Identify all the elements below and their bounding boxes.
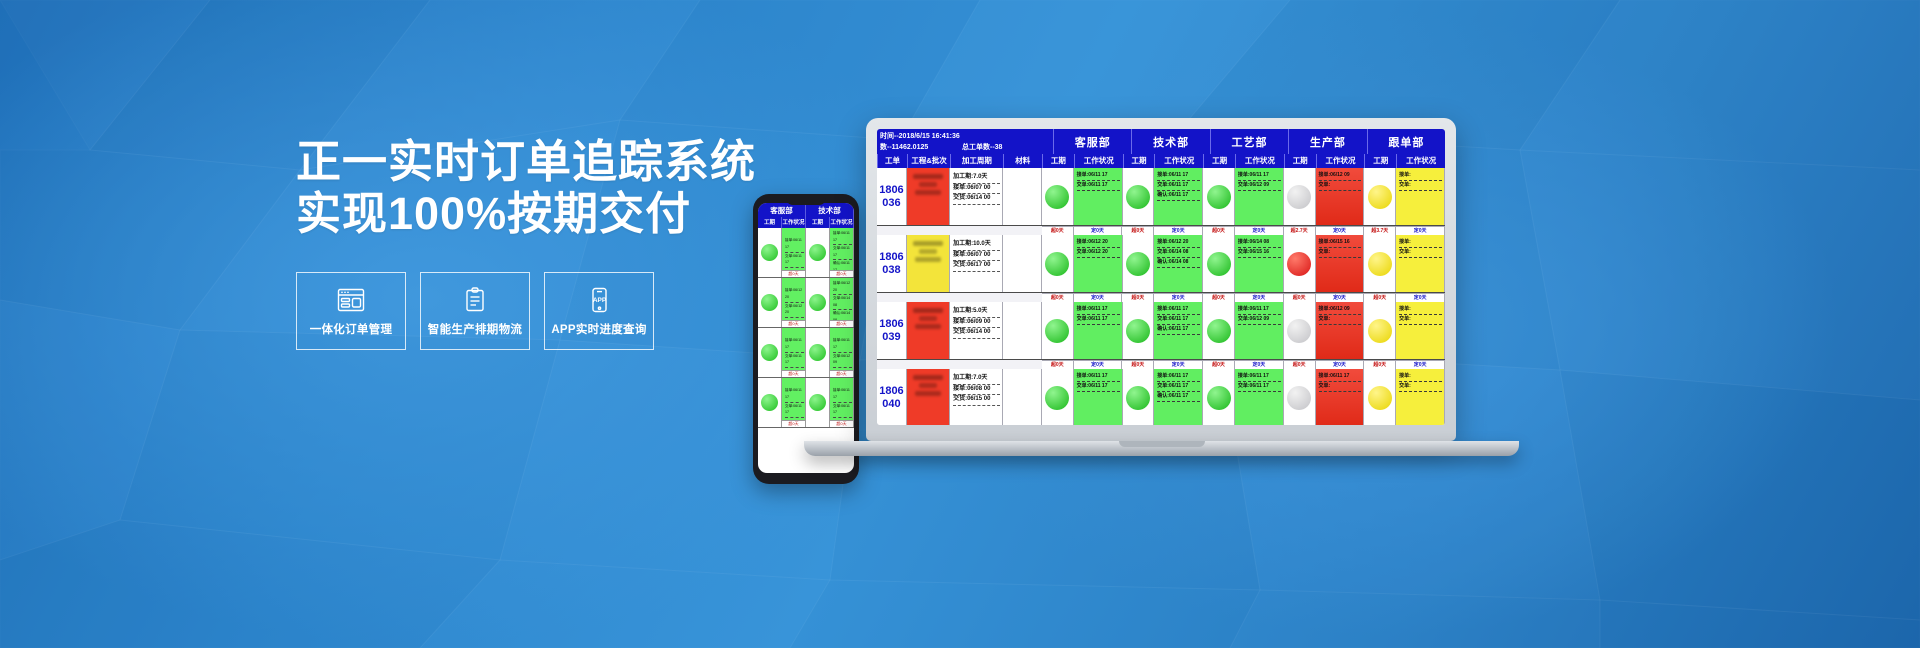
svg-text:APP: APP: [593, 297, 607, 304]
scheduled-tag: 定0天: [1235, 293, 1284, 302]
redacted-text: [915, 190, 942, 195]
work-status-cell[interactable]: 接单:06/12 09交单:: [1316, 168, 1365, 225]
status-line: 接单:06/11 17: [1157, 372, 1200, 382]
overdue-tag: 超0天: [1203, 360, 1235, 369]
status-line: 交单:: [1319, 382, 1362, 392]
phone-status-cell[interactable]: 接单:06/11 17 交单:06/11 17 超0天: [782, 378, 806, 427]
headline-line-1: 正一实时订单追踪系统: [296, 136, 756, 187]
status-line: 交单:: [1319, 248, 1362, 258]
cycle-line: 接单:06/09 00: [953, 318, 1000, 329]
overdue-tag: 超0天: [1042, 226, 1074, 235]
process-cycle-cell[interactable]: 加工期:10.0天接单:06/07 00交货:06/17 00: [950, 235, 1003, 292]
cycle-line: 加工期:7.0天: [953, 173, 1000, 184]
phone-status-cell[interactable]: 接单:06/11 17 交单:06/11 17 超0天: [782, 228, 806, 277]
status-line: 交单:06/11 17: [833, 245, 852, 260]
phone-dept-customer-service: 客服部: [758, 203, 806, 217]
status-tag-row: 超0天定0天超0天定0天超0天定0天超0天定0天超0天定0天: [877, 293, 1445, 302]
status-line: 交单:06/12 09: [833, 353, 852, 368]
status-dot-green: [1045, 319, 1069, 343]
status-dot-green: [761, 394, 778, 411]
dept-technical: 技术部: [1131, 129, 1209, 154]
status-line: 交单:: [1399, 315, 1442, 325]
overdue-tag: 超0天: [1042, 360, 1074, 369]
status-line: 接单:06/11 17: [785, 237, 804, 252]
status-line: 确认:06/14 08: [1157, 258, 1200, 268]
order-tracking-app: 时间--2018/6/15 16:41:36 数--11462.0125 总工单…: [877, 129, 1445, 425]
overdue-tag: 超0天: [1284, 360, 1316, 369]
work-status-cell[interactable]: 接单:06/11 17交单:: [1316, 369, 1365, 425]
status-line: 交单:06/15 16: [1238, 248, 1281, 258]
feature-label: 智能生产排期物流: [428, 321, 522, 337]
redacted-text: [919, 182, 937, 187]
status-line: 接单:: [1399, 238, 1442, 248]
table-row[interactable]: 1806036加工期:7.0天接单:06/07 00交货:06/14 00接单:…: [877, 168, 1445, 226]
overdue-tag: 超0天: [1122, 293, 1154, 302]
phone-duration-cell[interactable]: [758, 278, 782, 327]
overdue-tag: 超0天: [1042, 293, 1074, 302]
phone-col-duration: 工期: [806, 217, 830, 228]
meta-count: 数--11462.0125: [880, 142, 962, 153]
duration-cell[interactable]: [1364, 168, 1396, 225]
overdue-tag: 超0天: [1122, 360, 1154, 369]
status-line: 接单:06/11 17: [1238, 171, 1281, 181]
status-line: 接单:06/12 09: [1319, 305, 1362, 315]
phone-duration-cell[interactable]: [806, 328, 830, 377]
phone-table-row[interactable]: 接单:06/11 17 交单:06/11 17 超0天 接单:06/11 17 …: [758, 378, 854, 428]
department-header: 客服部 技术部 工艺部 生产部 跟单部: [1053, 129, 1445, 154]
material-cell[interactable]: [1003, 168, 1042, 225]
status-line: 接单:06/11 17: [1157, 171, 1200, 181]
redacted-text: [919, 249, 937, 254]
status-dot-yellow: [1368, 386, 1392, 410]
status-line: 交单:06/11 17: [1077, 181, 1120, 191]
status-line: 交单:06/11 17: [785, 403, 804, 418]
status-dot-yellow: [1368, 185, 1392, 209]
duration-cell[interactable]: [1284, 168, 1316, 225]
redacted-text: [919, 383, 937, 388]
status-dot-green: [1126, 386, 1150, 410]
status-line: 接单:06/11 17: [1157, 305, 1200, 315]
work-status-cell[interactable]: 接单:06/12 20交单:06/12 20: [1074, 235, 1123, 292]
cycle-line: 加工期:5.0天: [953, 307, 1000, 318]
status-line: 接单:06/12 20: [1157, 238, 1200, 248]
cycle-line: 交货:06/15 00: [953, 395, 1000, 406]
col-duration-tech: 工期: [1123, 154, 1155, 168]
work-status-cell[interactable]: 接单:06/11 17交单:06/11 17: [1235, 369, 1284, 425]
status-line: 接单:06/12 20: [833, 280, 852, 295]
overdue-tag: 超0天: [830, 370, 853, 377]
redacted-text: [915, 391, 942, 396]
work-status-cell[interactable]: 接单:06/12 20交单:06/14 08确认:06/14 08: [1154, 235, 1203, 292]
scheduled-tag: 定0天: [1396, 360, 1445, 369]
duration-cell[interactable]: [1284, 235, 1316, 292]
phone-duration-cell[interactable]: [758, 378, 782, 427]
col-duration-prod: 工期: [1284, 154, 1316, 168]
col-material: 材料: [1003, 154, 1042, 168]
duration-cell[interactable]: [1364, 235, 1396, 292]
status-line: 交单:: [1399, 181, 1442, 191]
scheduled-tag: 定0天: [1316, 293, 1365, 302]
status-line: 接单:: [1399, 372, 1442, 382]
phone-notch: [786, 197, 826, 205]
cycle-line: 接单:06/08 00: [953, 385, 1000, 396]
phone-status-cell[interactable]: 接单:06/11 17 交单:06/12 09 超0天: [830, 328, 854, 377]
status-tag-row: 超0天定0天超0天定0天超0天定0天超2.7天定0天超3.7天定0天: [877, 226, 1445, 235]
status-line: 接单:06/12 20: [785, 287, 804, 302]
status-line: 交单:06/11 17: [785, 253, 804, 268]
phone-table-row[interactable]: 接单:06/12 20 交单:06/12 20 超0天 接单:06/12 20 …: [758, 278, 854, 328]
phone-department-header: 客服部 技术部: [758, 203, 854, 217]
col-duration-cs: 工期: [1042, 154, 1074, 168]
col-process-cycle: 加工周期: [950, 154, 1002, 168]
duration-cell[interactable]: [1123, 168, 1155, 225]
status-line: 交单:06/14 08: [833, 295, 852, 310]
duration-cell[interactable]: [1203, 235, 1235, 292]
redacted-text: [913, 174, 944, 179]
col-status-tech: 工作状况: [1154, 154, 1203, 168]
duration-cell[interactable]: [1042, 235, 1074, 292]
status-line: 接单:06/11 17: [1319, 372, 1362, 382]
status-dot-green: [809, 344, 826, 361]
app-meta: 时间--2018/6/15 16:41:36 数--11462.0125 总工单…: [877, 129, 1053, 154]
scheduled-tag: 定0天: [1074, 293, 1123, 302]
redacted-text: [913, 375, 944, 380]
phone-status-cell[interactable]: 接单:06/11 17 交单:06/11 17 超0天: [830, 378, 854, 427]
col-status-cs: 工作状况: [1074, 154, 1123, 168]
status-line: 交单:06/12 20: [1077, 248, 1120, 258]
tag-spacer: [877, 293, 1042, 302]
status-line: 交单:: [1399, 248, 1442, 258]
status-dot-green: [761, 244, 778, 261]
overdue-tag: 超0天: [782, 420, 805, 427]
phone-col-status: 工作状况: [830, 217, 854, 228]
work-status-cell[interactable]: 接单:06/11 17交单:06/12 09: [1235, 168, 1284, 225]
status-dot-green: [1207, 252, 1231, 276]
overdue-tag: 超0天: [1284, 293, 1316, 302]
duration-cell[interactable]: [1364, 302, 1396, 359]
status-line: 接单:06/12 09: [1319, 171, 1362, 181]
status-dot-green: [1045, 185, 1069, 209]
redacted-text: [915, 257, 942, 262]
work-status-cell[interactable]: 接单:06/14 08交单:06/15 16: [1235, 235, 1284, 292]
status-dot-yellow: [1368, 319, 1392, 343]
cycle-line: 加工期:7.0天: [953, 374, 1000, 385]
overdue-tag: 超0天: [1203, 226, 1235, 235]
laptop-base: [804, 441, 1519, 456]
status-dot-green: [1126, 319, 1150, 343]
overdue-tag: 超0天: [1203, 293, 1235, 302]
scheduled-tag: 定0天: [1235, 360, 1284, 369]
status-dot-green: [1126, 185, 1150, 209]
laptop-mockup: 时间--2018/6/15 16:41:36 数--11462.0125 总工单…: [866, 118, 1456, 456]
phone-table-row[interactable]: 接单:06/11 17 交单:06/11 17 超0天 接单:06/11 17 …: [758, 228, 854, 278]
phone-duration-cell[interactable]: [758, 228, 782, 277]
status-tag-row: 超0天定0天超0天定0天超0天定0天超0天定0天超0天定0天: [877, 360, 1445, 369]
cycle-line: 交货:06/14 00: [953, 328, 1000, 339]
col-status-proc: 工作状况: [1235, 154, 1284, 168]
dept-customer-service: 客服部: [1053, 129, 1131, 154]
scheduled-tag: 定0天: [1235, 226, 1284, 235]
scheduled-tag: 定0天: [1154, 293, 1203, 302]
status-line: 接单:06/12 20: [1077, 238, 1120, 248]
overdue-tag: 超3.7天: [1364, 226, 1396, 235]
meta-time: 时间--2018/6/15 16:41:36: [880, 131, 1053, 142]
duration-cell[interactable]: [1364, 369, 1396, 425]
cycle-line: 加工期:10.0天: [953, 240, 1000, 251]
overdue-tag: 超2.7天: [1284, 226, 1316, 235]
phone-col-status: 工作状况: [782, 217, 806, 228]
status-line: 交单:06/14 08: [1157, 248, 1200, 258]
material-cell[interactable]: [1003, 302, 1042, 359]
cycle-line: 接单:06/07 00: [953, 184, 1000, 195]
work-status-cell[interactable]: 接单:06/11 17交单:06/11 17: [1074, 302, 1123, 359]
status-line: 交单:06/11 17: [833, 403, 852, 418]
status-line: 交单:06/11 17: [1157, 382, 1200, 392]
duration-cell[interactable]: [1123, 302, 1155, 359]
work-status-cell[interactable]: 接单:06/12 09交单:: [1316, 302, 1365, 359]
overdue-tag: 超0天: [782, 320, 805, 327]
overdue-tag: 超0天: [1122, 226, 1154, 235]
overdue-tag: 超0天: [830, 320, 853, 327]
work-status-cell[interactable]: 接单:06/11 17交单:06/12 09: [1235, 302, 1284, 359]
status-dot-green: [1207, 185, 1231, 209]
process-cycle-cell[interactable]: 加工期:5.0天接单:06/09 00交货:06/14 00: [950, 302, 1003, 359]
phone-duration-cell[interactable]: [806, 378, 830, 427]
scheduled-tag: 定0天: [1316, 360, 1365, 369]
status-line: 接单:06/11 17: [785, 387, 804, 402]
tag-spacer: [877, 360, 1042, 369]
scheduled-tag: 定0天: [1396, 226, 1445, 235]
redacted-text: [915, 324, 942, 329]
scheduled-tag: 定0天: [1074, 360, 1123, 369]
phone-duration-cell[interactable]: [806, 228, 830, 277]
duration-cell[interactable]: [1284, 302, 1316, 359]
col-status-follow: 工作状况: [1396, 154, 1445, 168]
status-dot-grey: [1287, 386, 1311, 410]
duration-cell[interactable]: [1284, 369, 1316, 425]
duration-cell[interactable]: [1203, 369, 1235, 425]
phone-col-duration: 工期: [758, 217, 782, 228]
status-line: 交单:06/11 17: [1077, 315, 1120, 325]
status-line: 接单:06/11 17: [1077, 171, 1120, 181]
col-project-batch: 工程&批次: [907, 154, 950, 168]
work-status-cell[interactable]: 接单:06/11 17交单:06/11 17: [1074, 369, 1123, 425]
redacted-text: [913, 308, 944, 313]
status-line: 接单:06/11 17: [833, 387, 852, 402]
column-header-row: 工单 工程&批次 加工周期 材料 工期 工作状况 工期 工作状况 工期 工作状况…: [877, 154, 1445, 168]
cycle-line: 接单:06/07 00: [953, 251, 1000, 262]
phone-column-header: 工期 工作状况 工期 工作状况: [758, 217, 854, 228]
scheduled-tag: 定0天: [1396, 293, 1445, 302]
table-row[interactable]: 1806040加工期:7.0天接单:06/08 00交货:06/15 00接单:…: [877, 369, 1445, 425]
feature-label: 一体化订单管理: [310, 321, 393, 337]
overdue-tag: 超0天: [830, 420, 853, 427]
status-line: 接单:: [1399, 171, 1442, 181]
meta-total-orders: 总工单数--38: [962, 142, 1002, 153]
work-status-cell[interactable]: 接单:06/11 17交单:06/11 17确认:06/11 17: [1154, 369, 1203, 425]
feature-label: APP实时进度查询: [551, 321, 646, 337]
status-line: 接单:06/11 17: [1077, 305, 1120, 315]
feature-smart-scheduling[interactable]: 智能生产排期物流: [420, 272, 530, 350]
duration-cell[interactable]: [1042, 302, 1074, 359]
col-duration-proc: 工期: [1203, 154, 1235, 168]
duration-cell[interactable]: [1042, 168, 1074, 225]
status-line: 交单:06/11 17: [1077, 382, 1120, 392]
status-dot-green: [761, 294, 778, 311]
status-dot-green: [809, 244, 826, 261]
process-cycle-cell[interactable]: 加工期:7.0天接单:06/07 00交货:06/14 00: [950, 168, 1003, 225]
status-line: 接单:: [1399, 305, 1442, 315]
status-line: 交单:06/12 20: [785, 303, 804, 318]
dept-production: 生产部: [1288, 129, 1366, 154]
phone-status-cell[interactable]: 接单:06/11 17 交单:06/11 17 确认:06/11 17 超0天: [830, 228, 854, 277]
status-line: 交单:06/11 17: [785, 353, 804, 368]
phone-table-body[interactable]: 接单:06/11 17 交单:06/11 17 超0天 接单:06/11 17 …: [758, 228, 854, 473]
phone-status-cell[interactable]: 接单:06/12 20 交单:06/14 08 确认:06/14 08 超0天: [830, 278, 854, 327]
status-dot-green: [1207, 319, 1231, 343]
project-batch-cell[interactable]: [907, 168, 950, 225]
col-duration-follow: 工期: [1364, 154, 1396, 168]
dept-order-follow: 跟单部: [1367, 129, 1445, 154]
status-line: 交单:06/12 09: [1238, 315, 1281, 325]
status-line: 接单:06/11 17: [1077, 372, 1120, 382]
col-work-order: 工单: [877, 154, 907, 168]
device-showcase: 客服部 技术部 工期 工作状况 工期 工作状况 接单:06/11 17 交单:0…: [740, 100, 1920, 530]
project-batch-cell[interactable]: [907, 235, 950, 292]
tag-spacer: [877, 226, 1042, 235]
work-status-cell[interactable]: 接单:06/11 17交单:06/11 17: [1074, 168, 1123, 225]
work-order-cell[interactable]: 1806036: [877, 168, 907, 225]
redacted-text: [913, 241, 944, 246]
status-line: 确认:06/11 17: [1157, 325, 1200, 335]
duration-cell[interactable]: [1123, 369, 1155, 425]
work-status-cell[interactable]: 接单:交单:: [1396, 369, 1445, 425]
status-dot-green: [1126, 252, 1150, 276]
project-batch-cell[interactable]: [907, 369, 950, 425]
app-topbar: 时间--2018/6/15 16:41:36 数--11462.0125 总工单…: [877, 129, 1445, 154]
status-dot-grey: [1287, 319, 1311, 343]
work-status-cell[interactable]: 接单:06/11 17交单:06/11 17确认:06/11 17: [1154, 302, 1203, 359]
feature-order-management[interactable]: 一体化订单管理: [296, 272, 406, 350]
work-order-cell[interactable]: 1806038: [877, 235, 907, 292]
feature-app-progress[interactable]: APP APP实时进度查询: [544, 272, 654, 350]
work-order-cell[interactable]: 1806039: [877, 302, 907, 359]
dept-process: 工艺部: [1210, 129, 1288, 154]
phone-dept-technical: 技术部: [806, 203, 854, 217]
overdue-tag: 超0天: [1364, 293, 1396, 302]
material-cell[interactable]: [1003, 369, 1042, 425]
clipboard-icon: [460, 286, 490, 314]
work-order-number: 1806040: [879, 385, 903, 411]
project-batch-cell[interactable]: [907, 302, 950, 359]
overdue-tag: 超0天: [782, 270, 805, 277]
process-cycle-cell[interactable]: 加工期:7.0天接单:06/08 00交货:06/15 00: [950, 369, 1003, 425]
laptop-lid: 时间--2018/6/15 16:41:36 数--11462.0125 总工单…: [866, 118, 1456, 441]
status-line: 接单:06/11 17: [785, 337, 804, 352]
work-status-cell[interactable]: 接单:交单:: [1396, 168, 1445, 225]
work-order-cell[interactable]: 1806040: [877, 369, 907, 425]
work-status-cell[interactable]: 接单:06/15 16交单:: [1316, 235, 1365, 292]
status-dot-grey: [1287, 185, 1311, 209]
col-status-prod: 工作状况: [1316, 154, 1365, 168]
status-dot-red: [1287, 252, 1311, 276]
phone-screen: 客服部 技术部 工期 工作状况 工期 工作状况 接单:06/11 17 交单:0…: [758, 203, 854, 473]
overdue-tag: 超0天: [782, 370, 805, 377]
status-dot-yellow: [1368, 252, 1392, 276]
work-status-cell[interactable]: 接单:06/11 17交单:06/11 17确认:06/11 17: [1154, 168, 1203, 225]
status-line: 交单:06/11 17: [1157, 315, 1200, 325]
status-line: 接单:06/11 17: [833, 337, 852, 352]
table-row[interactable]: 1806039加工期:5.0天接单:06/09 00交货:06/14 00接单:…: [877, 302, 1445, 360]
status-line: 接单:06/14 08: [1238, 238, 1281, 248]
status-line: 交单:06/11 17: [1238, 382, 1281, 392]
work-order-number: 1806038: [879, 251, 903, 277]
table-row[interactable]: 1806038加工期:10.0天接单:06/07 00交货:06/17 00接单…: [877, 235, 1445, 293]
duration-cell[interactable]: [1042, 369, 1074, 425]
overdue-tag: 超0天: [1364, 360, 1396, 369]
duration-cell[interactable]: [1203, 168, 1235, 225]
status-dot-green: [1045, 252, 1069, 276]
phone-status-cell[interactable]: 接单:06/12 20 交单:06/12 20 超0天: [782, 278, 806, 327]
duration-cell[interactable]: [1123, 235, 1155, 292]
status-line: 交单:: [1319, 315, 1362, 325]
dashboard-icon: [336, 286, 366, 314]
work-order-number: 1806036: [879, 184, 903, 210]
status-dot-green: [1207, 386, 1231, 410]
phone-status-cell[interactable]: 接单:06/11 17 交单:06/11 17 超0天: [782, 328, 806, 377]
scheduled-tag: 定0天: [1074, 226, 1123, 235]
cycle-line: 交货:06/17 00: [953, 261, 1000, 272]
scheduled-tag: 定0天: [1154, 360, 1203, 369]
status-line: 确认:06/11 17: [1157, 392, 1200, 402]
status-line: 交单:06/12 09: [1238, 181, 1281, 191]
work-status-cell[interactable]: 接单:交单:: [1396, 302, 1445, 359]
work-status-cell[interactable]: 接单:交单:: [1396, 235, 1445, 292]
phone-duration-cell[interactable]: [758, 328, 782, 377]
status-dot-green: [809, 394, 826, 411]
redacted-text: [919, 316, 937, 321]
scheduled-tag: 定0天: [1154, 226, 1203, 235]
phone-table-row[interactable]: 接单:06/11 17 交单:06/11 17 超0天 接单:06/11 17 …: [758, 328, 854, 378]
status-dot-green: [761, 344, 778, 361]
cycle-line: 交货:06/14 00: [953, 194, 1000, 205]
phone-duration-cell[interactable]: [806, 278, 830, 327]
overdue-tag: 超0天: [830, 270, 853, 277]
status-dot-green: [809, 294, 826, 311]
status-line: 接单:06/11 17: [1238, 305, 1281, 315]
status-line: 交单:: [1319, 181, 1362, 191]
status-line: 交单:06/11 17: [1157, 181, 1200, 191]
status-line: 接单:06/11 17: [1238, 372, 1281, 382]
status-line: 交单:: [1399, 382, 1442, 392]
laptop-screen: 时间--2018/6/15 16:41:36 数--11462.0125 总工单…: [877, 129, 1445, 425]
work-order-number: 1806039: [879, 318, 903, 344]
scheduled-tag: 定0天: [1316, 226, 1365, 235]
status-dot-green: [1045, 386, 1069, 410]
status-line: 接单:06/11 17: [833, 230, 852, 245]
status-line: 确认:06/11 17: [1157, 191, 1200, 201]
mobile-app-icon: APP: [584, 286, 614, 314]
order-table-body[interactable]: 1806036加工期:7.0天接单:06/07 00交货:06/14 00接单:…: [877, 168, 1445, 425]
status-line: 接单:06/15 16: [1319, 238, 1362, 248]
material-cell[interactable]: [1003, 235, 1042, 292]
duration-cell[interactable]: [1203, 302, 1235, 359]
